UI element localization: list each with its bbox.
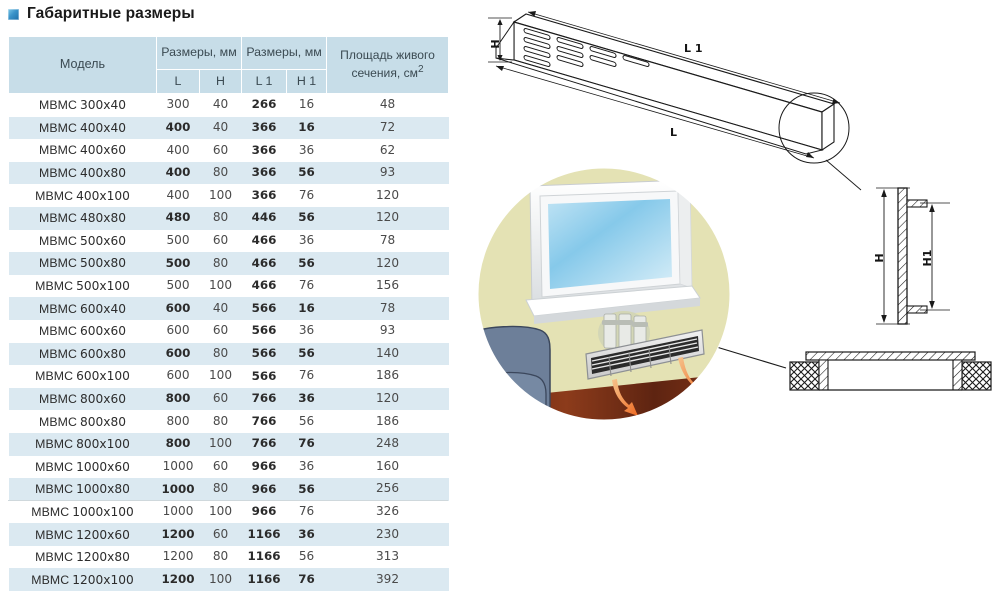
cell-l1: 446 (242, 207, 287, 230)
table-row: МВМС400x10040010036676120 (9, 184, 449, 207)
cell-model: МВМС800x60 (9, 388, 157, 411)
cell-model: МВМС800x100 (9, 433, 157, 456)
cell-model: МВМС1000x80 (9, 478, 157, 501)
cell-l: 600 (157, 365, 200, 388)
cell-h1: 76 (287, 433, 327, 456)
table-row: МВМС800x10080010076676248 (9, 433, 449, 456)
table-row: МВМС1000x6010006096636160 (9, 456, 449, 479)
cell-area: 93 (327, 320, 449, 343)
cell-h: 100 (200, 568, 242, 591)
cell-h: 60 (200, 456, 242, 479)
cell-h: 80 (200, 478, 242, 501)
cell-area: 78 (327, 230, 449, 253)
cell-model: МВМС400x40 (9, 117, 157, 140)
cell-area: 186 (327, 410, 449, 433)
cell-h: 80 (200, 410, 242, 433)
cell-h: 100 (200, 275, 242, 298)
model-size: 600x80 (80, 347, 126, 361)
cell-l: 500 (157, 275, 200, 298)
table-row: МВМС1000x100100010096676326 (9, 501, 449, 524)
cell-h1: 36 (287, 388, 327, 411)
cell-l: 400 (157, 117, 200, 140)
cell-l: 1200 (157, 523, 200, 546)
model-prefix: МВМС (39, 98, 77, 112)
cell-h1: 36 (287, 523, 327, 546)
model-prefix: МВМС (39, 121, 77, 135)
col-header-l1: L 1 (242, 70, 287, 94)
cell-model: МВМС800x80 (9, 410, 157, 433)
cell-h: 40 (200, 94, 242, 117)
col-header-area: Площадь живого сечения, см2 (327, 37, 449, 94)
model-prefix: МВМС (35, 189, 73, 203)
cell-h: 60 (200, 388, 242, 411)
cell-area: 392 (327, 568, 449, 591)
model-size: 400x60 (80, 143, 126, 157)
model-size: 400x100 (76, 189, 130, 203)
cell-area: 120 (327, 252, 449, 275)
cell-l: 300 (157, 94, 200, 117)
cell-l: 1200 (157, 568, 200, 591)
section-label-h: H (873, 253, 886, 262)
model-prefix: МВМС (35, 528, 73, 542)
cell-h1: 56 (287, 252, 327, 275)
cell-area: 156 (327, 275, 449, 298)
cell-l1: 1166 (242, 523, 287, 546)
table-body: МВМС300x40300402661648МВМС400x4040040366… (9, 94, 449, 591)
model-prefix: МВМС (31, 505, 69, 519)
col-header-l: L (157, 70, 200, 94)
cell-l1: 466 (242, 275, 287, 298)
table-head: Модель Размеры, мм Размеры, мм Площадь ж… (9, 37, 449, 94)
cell-h1: 76 (287, 365, 327, 388)
model-size: 500x60 (80, 234, 126, 248)
dimensions-table-wrap: Модель Размеры, мм Размеры, мм Площадь ж… (8, 36, 448, 591)
table-row: МВМС1200x80120080116656313 (9, 546, 449, 569)
table-row: МВМС500x60500604663678 (9, 230, 449, 253)
cell-l1: 366 (242, 162, 287, 185)
table-row: МВМС1000x8010008096656256 (9, 478, 449, 501)
cell-l: 400 (157, 184, 200, 207)
cell-h: 80 (200, 207, 242, 230)
cell-l1: 966 (242, 456, 287, 479)
model-size: 400x80 (80, 166, 126, 180)
cell-h: 100 (200, 184, 242, 207)
cell-h: 80 (200, 546, 242, 569)
table-row: МВМС400x80400803665693 (9, 162, 449, 185)
model-prefix: МВМС (39, 143, 77, 157)
table-row: МВМС600x40600405661678 (9, 297, 449, 320)
model-prefix: МВМС (35, 437, 73, 451)
cell-h1: 76 (287, 275, 327, 298)
page-title: Габаритные размеры (8, 5, 195, 23)
cell-area: 248 (327, 433, 449, 456)
table-row: МВМС600x10060010056676186 (9, 365, 449, 388)
cell-h1: 36 (287, 320, 327, 343)
cell-h1: 76 (287, 184, 327, 207)
cell-h: 80 (200, 162, 242, 185)
model-size: 1200x80 (76, 550, 130, 564)
cell-l1: 766 (242, 410, 287, 433)
cell-h1: 16 (287, 297, 327, 320)
cell-h1: 36 (287, 230, 327, 253)
model-size: 400x40 (80, 121, 126, 135)
cell-h: 60 (200, 139, 242, 162)
cell-l1: 966 (242, 478, 287, 501)
cell-model: МВМС300x40 (9, 94, 157, 117)
model-size: 600x100 (76, 369, 130, 383)
cell-model: МВМС1200x80 (9, 546, 157, 569)
model-size: 800x80 (80, 415, 126, 429)
cell-area: 48 (327, 94, 449, 117)
cell-l: 600 (157, 297, 200, 320)
table-row: МВМС300x40300402661648 (9, 94, 449, 117)
cell-l: 400 (157, 162, 200, 185)
cell-l: 800 (157, 433, 200, 456)
table-row: МВМС500x10050010046676156 (9, 275, 449, 298)
cell-area: 62 (327, 139, 449, 162)
table-row: МВМС400x40400403661672 (9, 117, 449, 140)
model-size: 1000x60 (76, 460, 130, 474)
cell-l: 800 (157, 388, 200, 411)
model-prefix: МВМС (39, 415, 77, 429)
cell-l1: 566 (242, 320, 287, 343)
cell-l1: 466 (242, 252, 287, 275)
cell-model: МВМС480x80 (9, 207, 157, 230)
model-size: 800x60 (80, 392, 126, 406)
cell-area: 120 (327, 388, 449, 411)
cell-h: 60 (200, 230, 242, 253)
cell-model: МВМС1000x100 (9, 501, 157, 524)
cell-h: 100 (200, 433, 242, 456)
cell-l: 1000 (157, 501, 200, 524)
side-section-drawing: H H1 (858, 158, 1001, 344)
room-installation-illustration (478, 168, 730, 424)
table-row: МВМС480x804808044656120 (9, 207, 449, 230)
cell-l1: 1166 (242, 546, 287, 569)
cell-h: 80 (200, 343, 242, 366)
model-size: 480x80 (80, 211, 126, 225)
page-title-text: Габаритные размеры (27, 5, 195, 23)
model-size: 300x40 (80, 98, 126, 112)
cell-model: МВМС1000x60 (9, 456, 157, 479)
col-header-h1: H 1 (287, 70, 327, 94)
cell-area: 93 (327, 162, 449, 185)
model-prefix: МВМС (39, 302, 77, 316)
table-row: МВМС1200x1001200100116676392 (9, 568, 449, 591)
table-row: МВМС600x60600605663693 (9, 320, 449, 343)
col-header-group-inner: Размеры, мм (242, 37, 327, 70)
model-size: 500x100 (76, 279, 130, 293)
cell-h1: 56 (287, 207, 327, 230)
cell-l: 600 (157, 343, 200, 366)
col-header-h: H (200, 70, 242, 94)
dimensions-table: Модель Размеры, мм Размеры, мм Площадь ж… (8, 36, 449, 591)
model-size: 600x40 (80, 302, 126, 316)
cell-model: МВМС1200x100 (9, 568, 157, 591)
cell-model: МВМС600x80 (9, 343, 157, 366)
cell-model: МВМС500x100 (9, 275, 157, 298)
model-prefix: МВМС (39, 347, 77, 361)
cell-h: 40 (200, 297, 242, 320)
model-prefix: МВМС (35, 482, 73, 496)
cell-l: 1000 (157, 456, 200, 479)
cell-model: МВМС600x40 (9, 297, 157, 320)
cell-h1: 16 (287, 117, 327, 140)
cell-area: 256 (327, 478, 449, 501)
cell-h1: 56 (287, 478, 327, 501)
cell-h: 60 (200, 523, 242, 546)
cell-l: 800 (157, 410, 200, 433)
model-size: 600x60 (80, 324, 126, 338)
cell-h: 40 (200, 117, 242, 140)
cell-area: 78 (327, 297, 449, 320)
model-prefix: МВМС (39, 234, 77, 248)
cell-area: 140 (327, 343, 449, 366)
model-prefix: МВМС (35, 279, 73, 293)
cell-area: 72 (327, 117, 449, 140)
cell-area: 230 (327, 523, 449, 546)
model-prefix: МВМС (39, 324, 77, 338)
section-label-h1: H1 (921, 250, 934, 267)
cell-l1: 966 (242, 501, 287, 524)
table-row: МВМС600x806008056656140 (9, 343, 449, 366)
cell-model: МВМС1200x60 (9, 523, 157, 546)
iso-label-h: H (489, 39, 502, 48)
table-row: МВМС1200x60120060116636230 (9, 523, 449, 546)
model-size: 1200x60 (76, 528, 130, 542)
cell-l1: 766 (242, 388, 287, 411)
model-prefix: МВМС (39, 211, 77, 225)
cell-l1: 1166 (242, 568, 287, 591)
table-row: МВМС400x60400603663662 (9, 139, 449, 162)
cell-l1: 366 (242, 184, 287, 207)
cell-model: МВМС500x80 (9, 252, 157, 275)
cell-h1: 36 (287, 139, 327, 162)
model-size: 800x100 (76, 437, 130, 451)
model-prefix: МВМС (35, 460, 73, 474)
col-header-area-sup: 2 (418, 64, 424, 75)
cell-l: 500 (157, 252, 200, 275)
cell-l: 400 (157, 139, 200, 162)
cell-l: 600 (157, 320, 200, 343)
model-prefix: МВМС (35, 369, 73, 383)
model-size: 1000x80 (76, 482, 130, 496)
cell-l: 500 (157, 230, 200, 253)
cell-area: 326 (327, 501, 449, 524)
cell-model: МВМС600x100 (9, 365, 157, 388)
table-row: МВМС500x805008046656120 (9, 252, 449, 275)
cell-area: 313 (327, 546, 449, 569)
cell-l: 480 (157, 207, 200, 230)
cell-l1: 566 (242, 297, 287, 320)
cell-l: 1200 (157, 546, 200, 569)
cell-model: МВМС400x100 (9, 184, 157, 207)
cell-l1: 766 (242, 433, 287, 456)
cell-model: МВМС400x80 (9, 162, 157, 185)
cell-area: 120 (327, 207, 449, 230)
cell-h: 60 (200, 320, 242, 343)
model-prefix: МВМС (39, 392, 77, 406)
model-prefix: МВМС (35, 550, 73, 564)
col-header-group-outer: Размеры, мм (157, 37, 242, 70)
model-prefix: МВМС (39, 256, 77, 270)
table-bottom-rule (8, 500, 448, 501)
model-size: 500x80 (80, 256, 126, 270)
cell-l1: 266 (242, 94, 287, 117)
cell-l: 1000 (157, 478, 200, 501)
table-row: МВМС800x808008076656186 (9, 410, 449, 433)
cell-h1: 36 (287, 456, 327, 479)
cell-h1: 76 (287, 568, 327, 591)
cell-h1: 56 (287, 410, 327, 433)
model-size: 1000x100 (72, 505, 134, 519)
iso-label-l1: L 1 (684, 42, 703, 55)
cell-l1: 366 (242, 139, 287, 162)
cell-h1: 16 (287, 94, 327, 117)
cell-l1: 466 (242, 230, 287, 253)
iso-label-l: L (670, 126, 677, 139)
col-header-model: Модель (9, 37, 157, 94)
page-root: Габаритные размеры Модель Размеры, мм Ра… (0, 0, 1001, 526)
cell-l1: 366 (242, 117, 287, 140)
cell-l1: 566 (242, 365, 287, 388)
cell-model: МВМС400x60 (9, 139, 157, 162)
cell-h: 100 (200, 365, 242, 388)
cell-model: МВМС500x60 (9, 230, 157, 253)
cell-area: 186 (327, 365, 449, 388)
cell-area: 160 (327, 456, 449, 479)
cell-h1: 56 (287, 343, 327, 366)
cell-h1: 56 (287, 162, 327, 185)
blue-square-bullet-icon (8, 9, 19, 20)
cell-area: 120 (327, 184, 449, 207)
table-row: МВМС800x608006076636120 (9, 388, 449, 411)
cell-h: 100 (200, 501, 242, 524)
cell-model: МВМС600x60 (9, 320, 157, 343)
model-prefix: МВМС (31, 573, 69, 587)
cell-h1: 56 (287, 546, 327, 569)
cell-h1: 76 (287, 501, 327, 524)
model-prefix: МВМС (39, 166, 77, 180)
cell-l1: 566 (242, 343, 287, 366)
cell-h: 80 (200, 252, 242, 275)
model-size: 1200x100 (72, 573, 134, 587)
